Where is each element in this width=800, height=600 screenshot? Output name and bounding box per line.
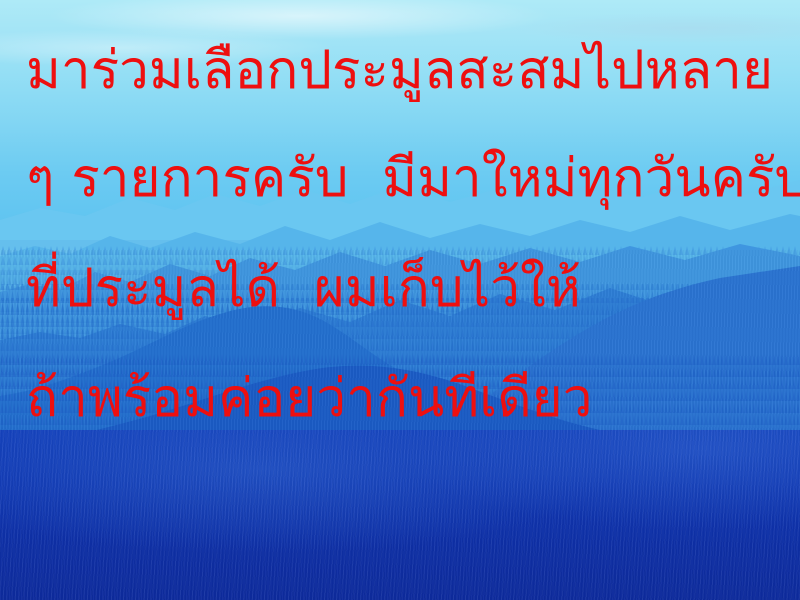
image-canvas: มาร่วมเลือกประมูลสะสมไปหลาย ๆ รายการครับ… [0, 0, 800, 600]
foreground-valley [0, 430, 800, 600]
